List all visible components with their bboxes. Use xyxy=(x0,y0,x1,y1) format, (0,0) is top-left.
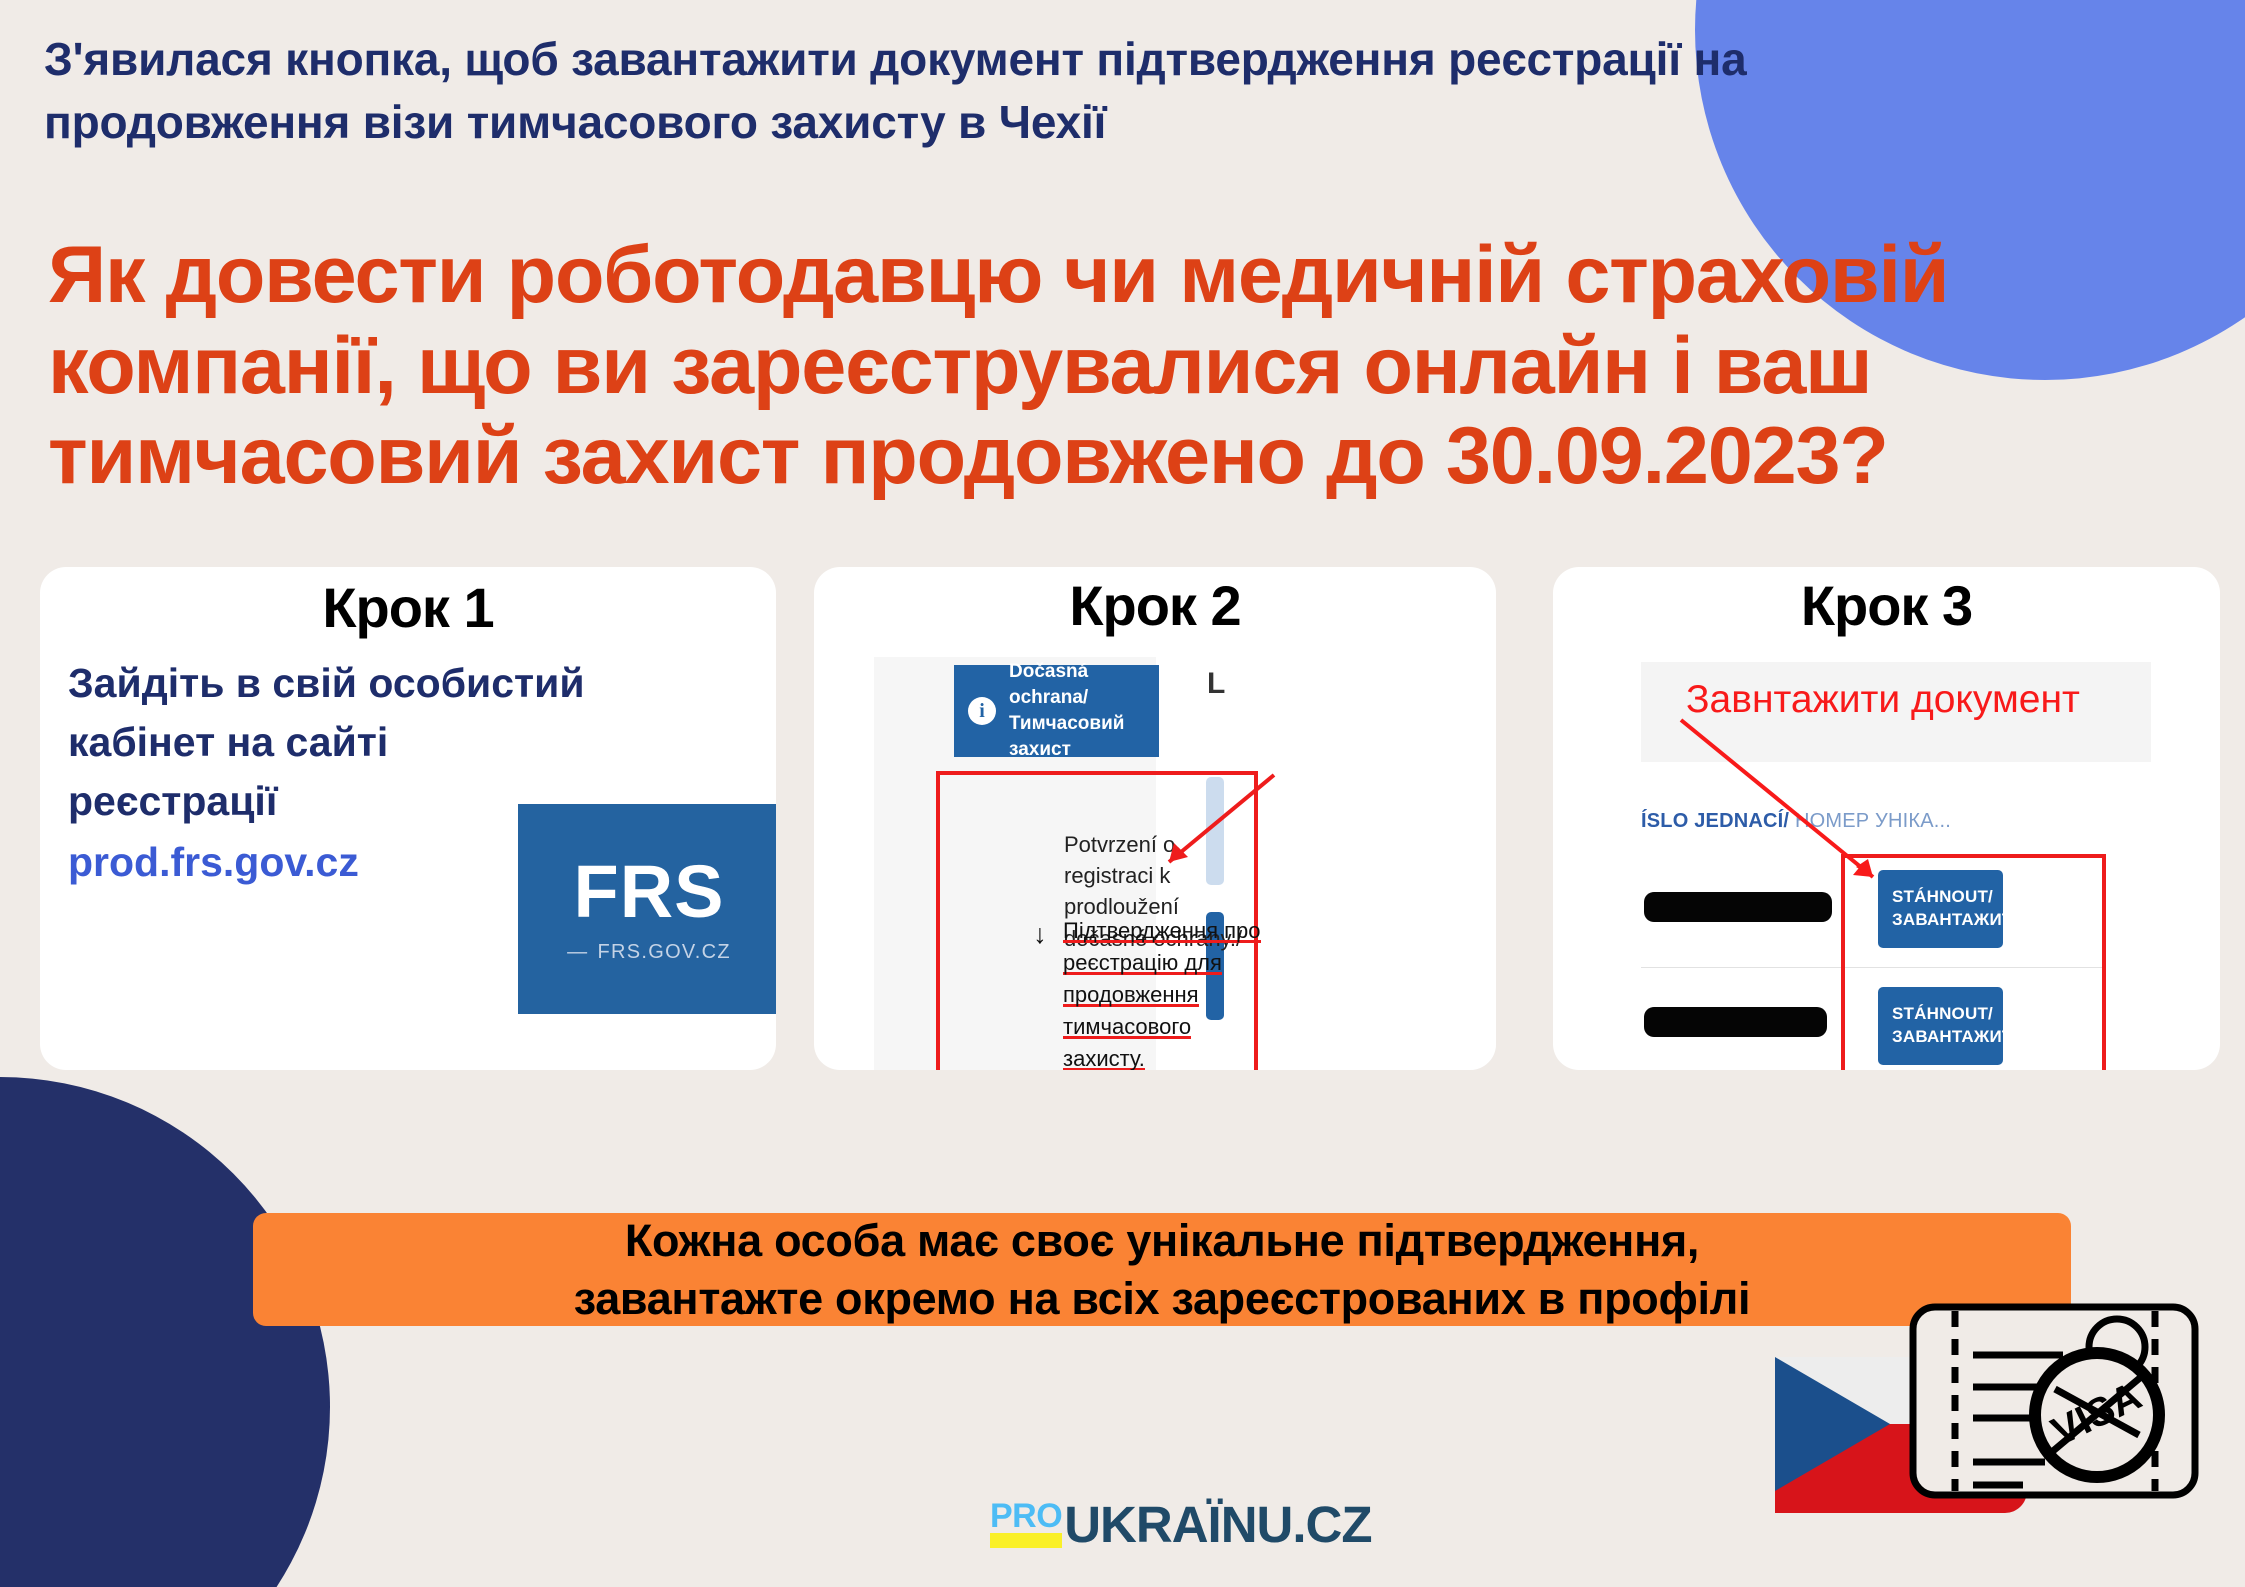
step-2-title: Крок 2 xyxy=(814,567,1496,638)
annotation-arrow-svg xyxy=(1641,662,2171,1070)
logo-ukrainu-u: U xyxy=(1064,1502,1100,1548)
step-1-title: Крок 1 xyxy=(40,567,776,640)
step-3-screenshot: Завнтажити документ ÍSLO JEDNACÍ/ НОМЕР … xyxy=(1641,662,2171,1070)
logo-yellow-bar xyxy=(990,1533,1062,1548)
frs-logo-dash: — xyxy=(567,941,588,963)
logo-ukrainu-rest: KRAÏNU.CZ xyxy=(1100,1502,1371,1548)
infographic-page: З'явилася кнопка, щоб завантажити докуме… xyxy=(0,0,2245,1587)
site-logo[interactable]: PRO UKRAÏNU.CZ xyxy=(990,1500,1372,1548)
notice-banner-line-1: Кожна особа має своє унікальне підтвердж… xyxy=(625,1212,1699,1270)
step-2-screenshot: L i Dočasná ochrana/ Тимчасовий захист P… xyxy=(874,657,1496,1070)
step-card-3: Крок 3 Завнтажити документ ÍSLO JEDNACÍ/… xyxy=(1553,567,2220,1070)
step-3-title: Крок 3 xyxy=(1553,567,2220,638)
annotation-arrow-svg xyxy=(874,657,1496,1070)
notice-banner-line-2: завантажте окремо на всіх зареєстрованих… xyxy=(574,1270,1751,1328)
decorative-navy-circle-bottom-left xyxy=(0,1077,330,1587)
step-1-line-1: Зайдіть в свій особистий xyxy=(68,654,748,713)
step-1-body: Зайдіть в свій особистий кабінет на сайт… xyxy=(40,640,776,892)
step-card-1: Крок 1 Зайдіть в свій особистий кабінет … xyxy=(40,567,776,1070)
step-1-line-2: кабінет на сайті xyxy=(68,713,748,772)
frs-logo-domain-text: FRS.GOV.CZ xyxy=(597,941,730,963)
visa-illustration: VISA xyxy=(1735,1295,2205,1580)
step-card-2: Крок 2 L i Dočasná ochrana/ Тимчасовий з… xyxy=(814,567,1496,1070)
frs-logo-domain: —FRS.GOV.CZ xyxy=(567,941,731,964)
frs-logo-wordmark: FRS xyxy=(574,855,725,929)
visa-stamp-icon: VISA xyxy=(2035,1353,2159,1477)
logo-pro-text: PRO xyxy=(990,1500,1062,1532)
page-title: Як довести роботодавцю чи медичній страх… xyxy=(48,230,2088,502)
logo-pro-block: PRO xyxy=(990,1500,1062,1548)
frs-logo: FRS —FRS.GOV.CZ xyxy=(518,804,776,1014)
kicker-text: З'явилася кнопка, щоб завантажити докуме… xyxy=(44,28,1944,155)
